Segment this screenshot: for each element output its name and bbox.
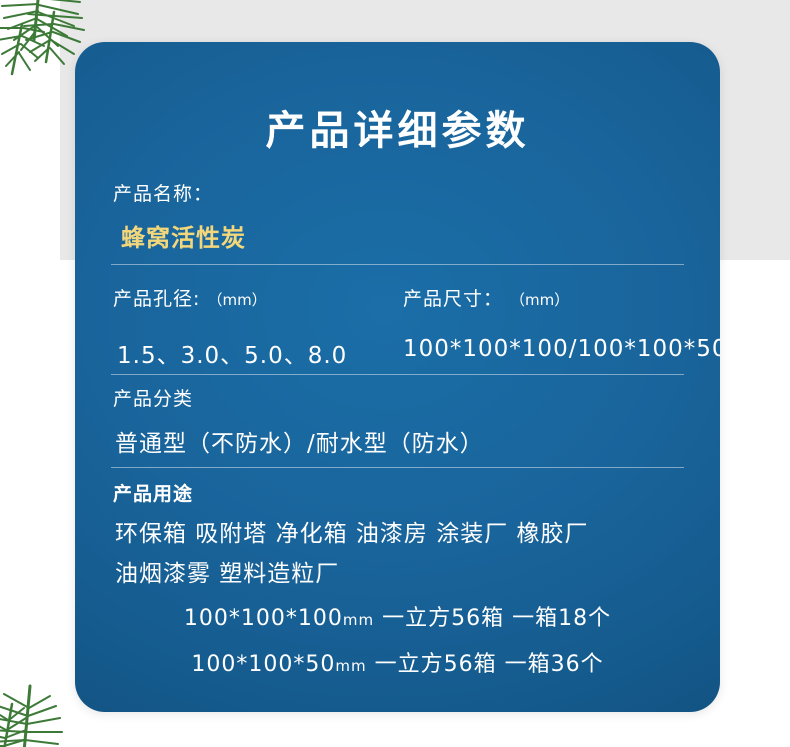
field-value-dimensions: 100*100*100/100*100*50 [403,336,720,362]
field-label-product-name: 产品名称： [113,179,213,206]
divider-3 [111,467,684,468]
spec-card: 产品详细参数 产品名称： 蜂窝活性炭 产品孔径: （mm） 产品尺寸： （mm）… [75,42,720,712]
page-title: 产品详细参数 [75,98,720,156]
field-value-product-name: 蜂窝活性炭 [121,218,246,253]
packing-line-2-text: 一立方56箱 一箱36个 [367,652,604,677]
field-value-classification: 普通型（不防水）/耐水型（防水） [115,424,484,458]
packing-line-1-size: 100*100*100 [184,606,343,631]
packing-line-1: 100*100*100mm 一立方56箱 一箱18个 [75,600,720,632]
field-label-dimensions-text: 产品尺寸： [403,288,510,310]
field-label-dimensions-unit: （mm） [510,291,569,309]
spec-card-inner: 产品详细参数 产品名称： 蜂窝活性炭 产品孔径: （mm） 产品尺寸： （mm）… [75,42,720,712]
field-value-usage-line-1: 环保箱 吸附塔 净化箱 油漆房 涂装厂 橡胶厂 [115,514,589,548]
packing-line-1-unit: mm [343,611,374,629]
packing-line-2: 100*100*50mm 一立方56箱 一箱36个 [75,646,720,678]
packing-line-2-size: 100*100*50 [191,652,335,677]
background-left-white [0,0,60,260]
field-value-usage-line-2: 油烟漆雾 塑料造粒厂 [115,554,339,588]
packing-line-2-unit: mm [335,657,366,675]
product-spec-page: 产品详细参数 产品名称： 蜂窝活性炭 产品孔径: （mm） 产品尺寸： （mm）… [0,0,790,747]
divider-2 [111,374,684,375]
divider-1 [111,264,684,265]
field-value-pore-size: 1.5、3.0、5.0、8.0 [117,336,347,370]
field-label-pore-size: 产品孔径: （mm） [113,284,267,311]
packing-line-1-text: 一立方56箱 一箱18个 [374,606,611,631]
field-label-classification: 产品分类 [113,384,193,411]
field-label-pore-size-text: 产品孔径: [113,288,207,310]
field-label-pore-size-unit: （mm） [207,291,266,309]
field-label-usage: 产品用途 [113,479,193,506]
field-label-dimensions: 产品尺寸： （mm） [403,284,569,311]
